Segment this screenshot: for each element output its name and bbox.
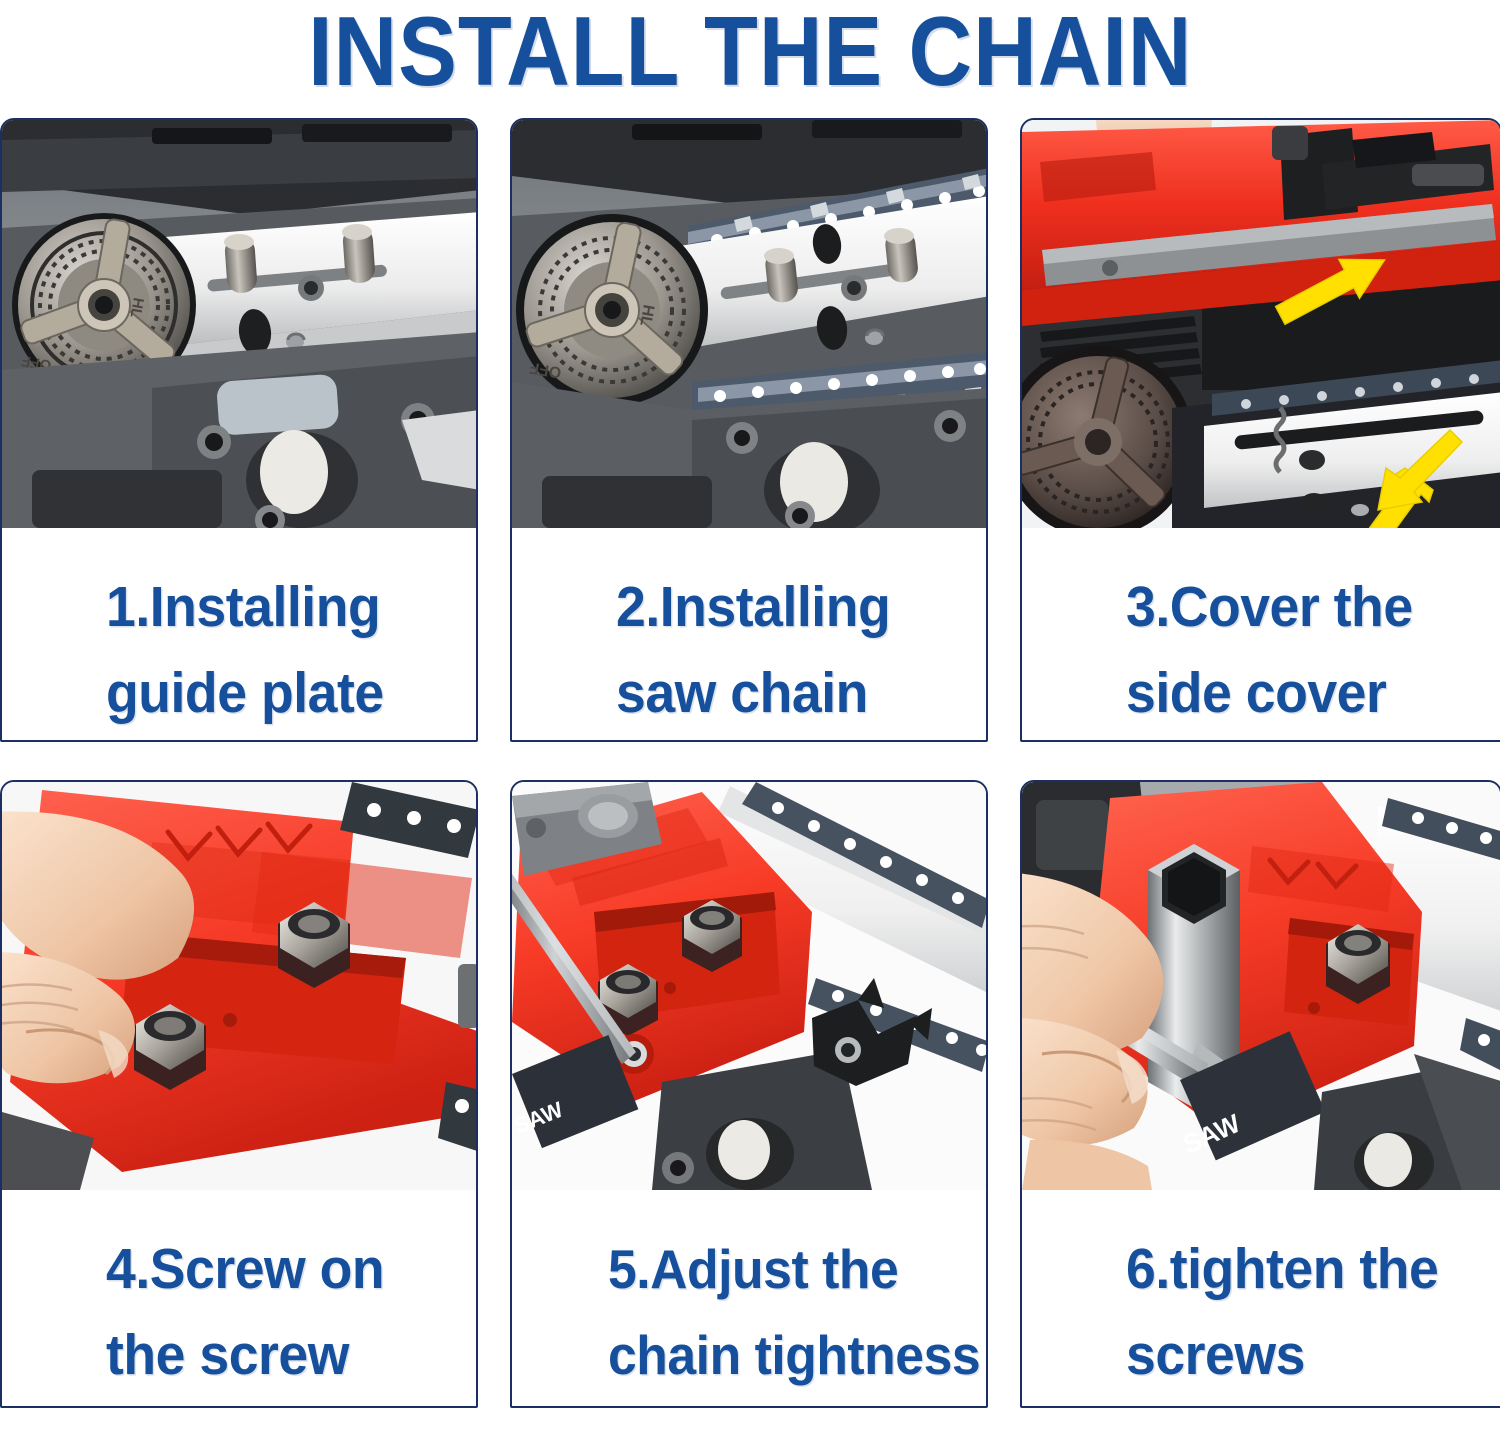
step-panel-3[interactable]: 3.Cover the side cover xyxy=(1020,118,1500,742)
step-6-caption-line-2: screws xyxy=(1126,1312,1478,1398)
step-4-caption-line-2: the screw xyxy=(106,1312,454,1398)
step-5-caption-line-1: 5.Adjust the xyxy=(608,1226,963,1312)
step-4-photo xyxy=(2,782,476,1190)
guide-plate-illustration: HL OFF xyxy=(2,120,476,528)
step-3-caption-line-1: 3.Cover the xyxy=(1126,564,1478,650)
page-title: INSTALL THE CHAIN xyxy=(308,0,1192,100)
screw-on-nuts-illustration xyxy=(2,782,476,1190)
step-panel-1[interactable]: HL OFF 1.Installing guide plate xyxy=(0,118,478,742)
step-6-caption: 6.tighten the screws xyxy=(1022,1190,1500,1406)
step-1-caption-line-2: guide plate xyxy=(106,650,454,736)
saw-chain-illustration: HL OFF xyxy=(512,120,986,528)
step-2-photo: HL OFF xyxy=(512,120,986,528)
step-panel-5[interactable]: SAW 5.Adjust the chain tightness xyxy=(510,780,988,1408)
step-6-photo: SAW xyxy=(1022,782,1500,1190)
step-panel-4[interactable]: 4.Screw on the screw xyxy=(0,780,478,1408)
step-1-photo: HL OFF xyxy=(2,120,476,528)
step-4-caption-line-1: 4.Screw on xyxy=(106,1226,454,1312)
step-3-caption-line-2: side cover xyxy=(1126,650,1478,736)
step-3-photo xyxy=(1022,120,1500,528)
side-cover-illustration xyxy=(1022,120,1500,528)
step-5-caption: 5.Adjust the chain tightness xyxy=(512,1190,986,1406)
step-1-caption: 1.Installing guide plate xyxy=(2,528,476,740)
step-6-caption-line-1: 6.tighten the xyxy=(1126,1226,1478,1312)
step-2-caption: 2.Installing saw chain xyxy=(512,528,986,740)
step-2-caption-line-2: saw chain xyxy=(616,650,964,736)
adjust-tension-illustration: SAW xyxy=(512,782,986,1190)
step-2-caption-line-1: 2.Installing xyxy=(616,564,964,650)
step-1-caption-line-1: 1.Installing xyxy=(106,564,454,650)
step-5-photo: SAW xyxy=(512,782,986,1190)
step-4-caption: 4.Screw on the screw xyxy=(2,1190,476,1406)
sprocket-hl-label: HL xyxy=(127,296,147,319)
step-3-caption: 3.Cover the side cover xyxy=(1022,528,1500,740)
step-panel-6[interactable]: SAW 6.tighten the screws xyxy=(1020,780,1500,1408)
title-bar: INSTALL THE CHAIN xyxy=(0,0,1500,118)
step-5-caption-line-2: chain tightness xyxy=(608,1312,963,1398)
tighten-screws-illustration: SAW xyxy=(1022,782,1500,1190)
step-panel-2[interactable]: HL OFF 2.Installing saw chain xyxy=(510,118,988,742)
steps-grid: HL OFF 1.Installing guide plate xyxy=(0,118,1500,1408)
